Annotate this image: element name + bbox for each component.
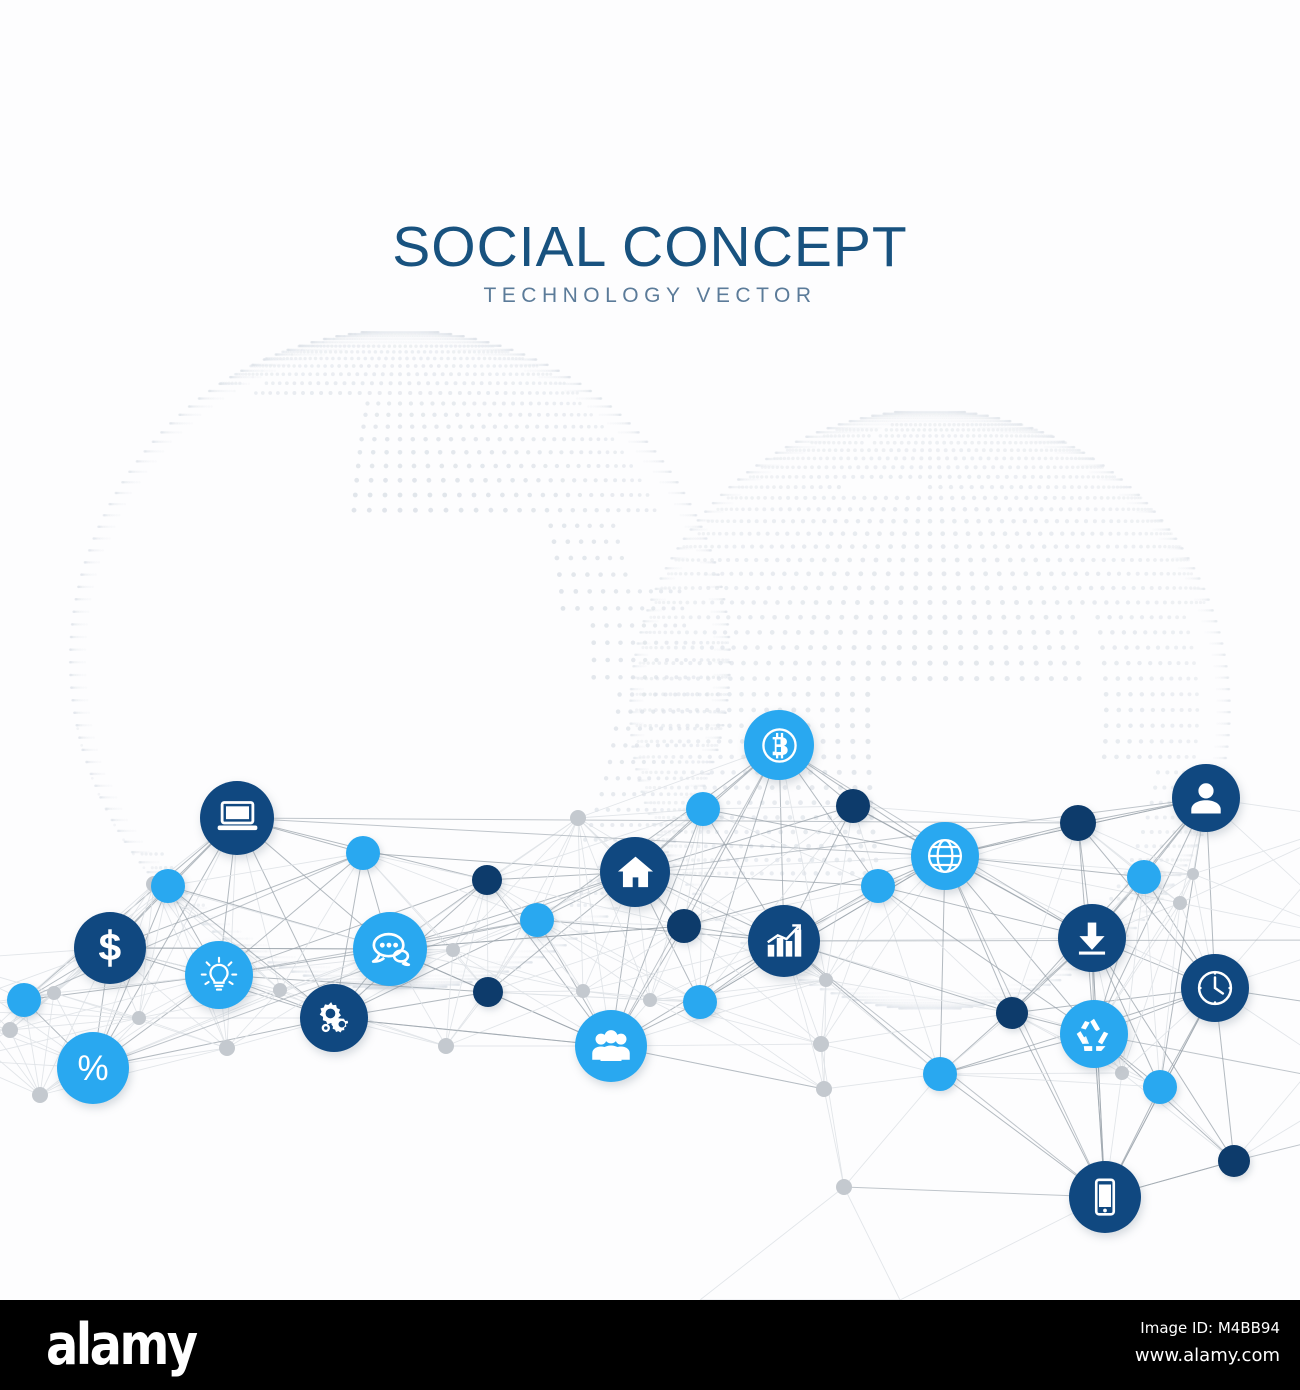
bitcoin-icon	[760, 726, 799, 765]
network-node[interactable]	[667, 909, 701, 943]
image-id-label: Image ID: M4BB94	[1135, 1316, 1280, 1341]
gears-icon	[315, 999, 353, 1037]
network-node[interactable]	[836, 789, 870, 823]
network-dot	[47, 986, 61, 1000]
network-node[interactable]	[1127, 860, 1161, 894]
dollar-node[interactable]: S	[74, 912, 146, 984]
dollar-icon: S	[90, 928, 130, 968]
lightbulb-icon	[200, 956, 238, 994]
user-node[interactable]	[1172, 764, 1240, 832]
network-node[interactable]	[1218, 1145, 1250, 1177]
network-dot	[273, 983, 287, 997]
bar-chart-icon	[764, 921, 804, 961]
smartphone-node[interactable]	[1069, 1161, 1141, 1233]
alamy-url-label: www.alamy.com	[1135, 1341, 1280, 1371]
network-dot	[1173, 896, 1187, 910]
globe-icon	[926, 837, 964, 875]
bitcoin-node[interactable]	[744, 710, 814, 780]
lightbulb-node[interactable]	[185, 941, 253, 1009]
network-dot	[438, 1038, 454, 1054]
network-dot	[819, 973, 833, 987]
network-dot	[643, 993, 657, 1007]
user-icon	[1187, 779, 1225, 817]
network-node[interactable]	[7, 983, 41, 1017]
bar-chart-node[interactable]	[748, 905, 820, 977]
network-lines	[0, 0, 1300, 1300]
network-node[interactable]	[472, 865, 502, 895]
network-node[interactable]	[1143, 1070, 1177, 1104]
network-dot	[813, 1036, 829, 1052]
network-node[interactable]	[151, 869, 185, 903]
percent-node[interactable]: %	[57, 1032, 129, 1104]
users-node[interactable]	[575, 1010, 647, 1082]
network-node[interactable]	[861, 869, 895, 903]
recycle-icon	[1075, 1015, 1113, 1053]
network-dot	[570, 810, 586, 826]
network-node[interactable]	[346, 836, 380, 870]
network-dot	[132, 1011, 146, 1025]
download-icon	[1073, 919, 1111, 957]
network-dot	[576, 984, 590, 998]
home-icon	[616, 853, 655, 892]
network-node[interactable]	[1060, 805, 1096, 841]
network-dot	[446, 943, 460, 957]
recycle-node[interactable]	[1060, 1000, 1128, 1068]
network-dot	[219, 1040, 235, 1056]
globe-node[interactable]	[911, 822, 979, 890]
network-node[interactable]	[686, 792, 720, 826]
users-icon	[591, 1026, 631, 1066]
clock-icon	[1196, 969, 1234, 1007]
percent-icon: %	[73, 1048, 113, 1088]
network-dot	[836, 1179, 852, 1195]
watermark-meta: Image ID: M4BB94 www.alamy.com	[1135, 1316, 1280, 1370]
watermark-bar: alamy Image ID: M4BB94 www.alamy.com	[0, 1300, 1300, 1390]
clock-node[interactable]	[1181, 954, 1249, 1022]
laptop-node[interactable]	[200, 781, 274, 855]
gears-node[interactable]	[300, 984, 368, 1052]
network-dot	[2, 1022, 18, 1038]
network-dot	[816, 1081, 832, 1097]
network-node[interactable]	[683, 985, 717, 1019]
laptop-icon	[217, 798, 258, 839]
chat-bubble-node[interactable]	[353, 912, 427, 986]
network-dot	[32, 1087, 48, 1103]
network-dot	[1187, 868, 1199, 880]
network-node[interactable]	[473, 977, 503, 1007]
smartphone-icon	[1085, 1177, 1125, 1217]
network-node[interactable]	[923, 1057, 957, 1091]
network-node[interactable]	[520, 903, 554, 937]
home-node[interactable]	[600, 837, 670, 907]
download-node[interactable]	[1058, 904, 1126, 972]
artboard: S% SOCIAL CONCEPT TECHNOLOGY VECTOR	[0, 0, 1300, 1300]
chat-bubble-icon	[370, 929, 411, 970]
network-node[interactable]	[996, 997, 1028, 1029]
illustration-canvas: S% SOCIAL CONCEPT TECHNOLOGY VECTOR alam…	[0, 0, 1300, 1390]
alamy-logo: alamy	[46, 1312, 196, 1378]
network-dot	[1115, 1066, 1129, 1080]
